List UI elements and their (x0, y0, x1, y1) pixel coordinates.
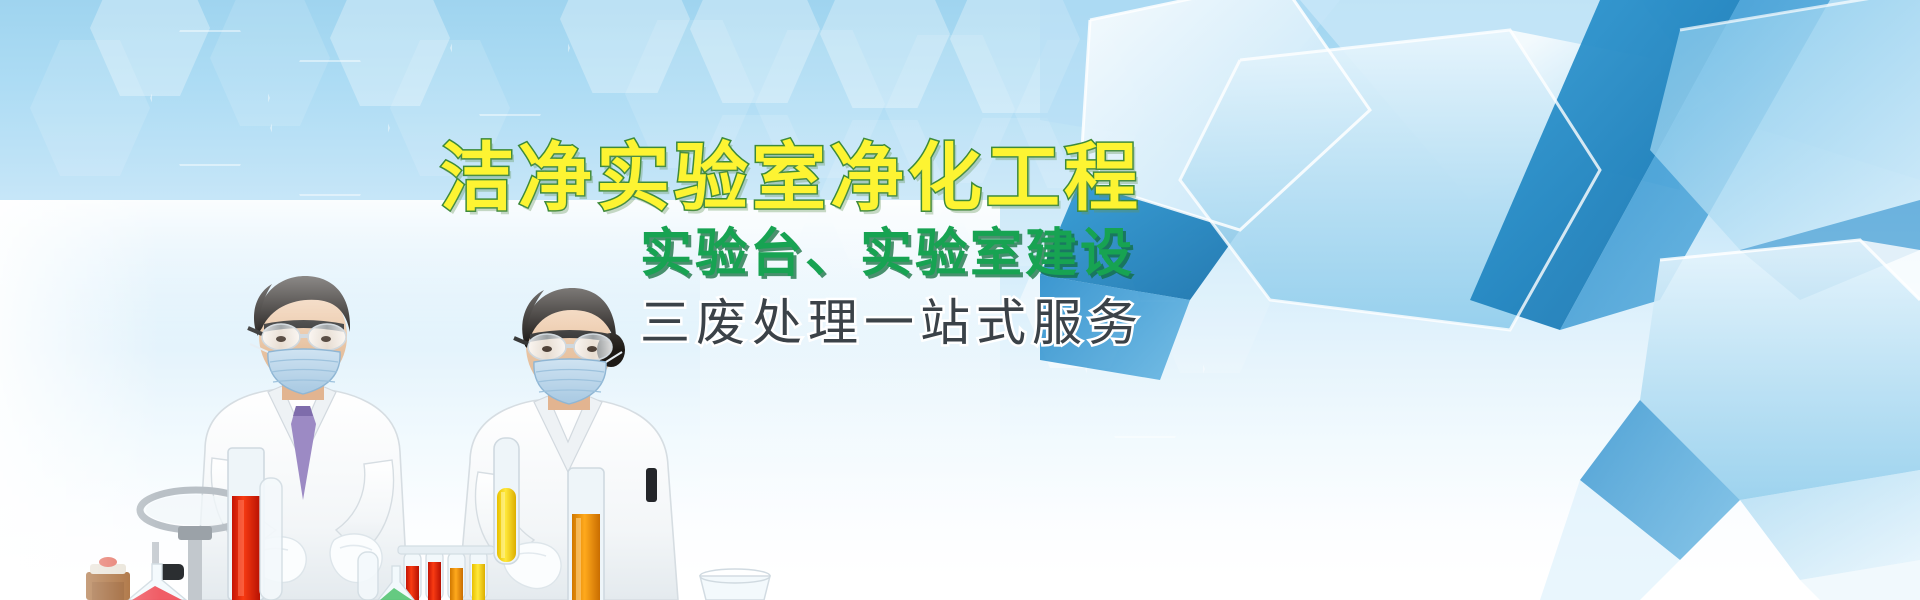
reagent-bottle (86, 557, 130, 600)
promo-banner: 洁净实验室净化工程 实验台、实验室建设 三废处理一站式服务 (0, 0, 1920, 600)
erlenmeyer-flask-green (378, 566, 414, 600)
hair (258, 276, 351, 334)
clear-test-tube (358, 552, 378, 600)
hexagon-shape (560, 0, 690, 93)
headline-primary: 洁净实验室净化工程 (440, 140, 1200, 215)
test-tube-rack (398, 546, 494, 600)
yellow-test-tube (494, 438, 519, 564)
hexagon-shape (150, 30, 270, 166)
face-mask (534, 352, 622, 404)
red-liquid-column (228, 448, 264, 600)
purple-necktie (291, 406, 316, 500)
face-mask (250, 344, 340, 394)
magnifier-stand (140, 490, 252, 600)
hexagon-shape (690, 0, 820, 103)
hexagon-shape (950, 0, 1080, 113)
pocket-pen (646, 468, 657, 502)
hexagon-shape (330, 0, 450, 106)
hexagon-shape (90, 0, 210, 96)
hexagon-shape (30, 40, 150, 176)
beaker (700, 569, 770, 600)
safety-goggles (248, 320, 346, 350)
latex-gloves (249, 534, 382, 583)
headline-tertiary: 三废处理一站式服务 (640, 296, 1200, 351)
latex-gloves (504, 543, 561, 589)
hexagon-shape (820, 0, 950, 108)
orange-graduated-cylinder (556, 468, 616, 600)
erlenmeyer-flask-red (128, 564, 186, 600)
hexagon-shape (270, 60, 390, 196)
hexagon-shape (210, 0, 330, 126)
clear-test-tube (260, 478, 282, 600)
male-scientist (196, 276, 408, 600)
headline-block: 洁净实验室净化工程 实验台、实验室建设 三废处理一站式服务 (440, 140, 1200, 351)
headline-secondary: 实验台、实验室建设 (640, 227, 1200, 282)
hexagon-shape (450, 0, 570, 116)
